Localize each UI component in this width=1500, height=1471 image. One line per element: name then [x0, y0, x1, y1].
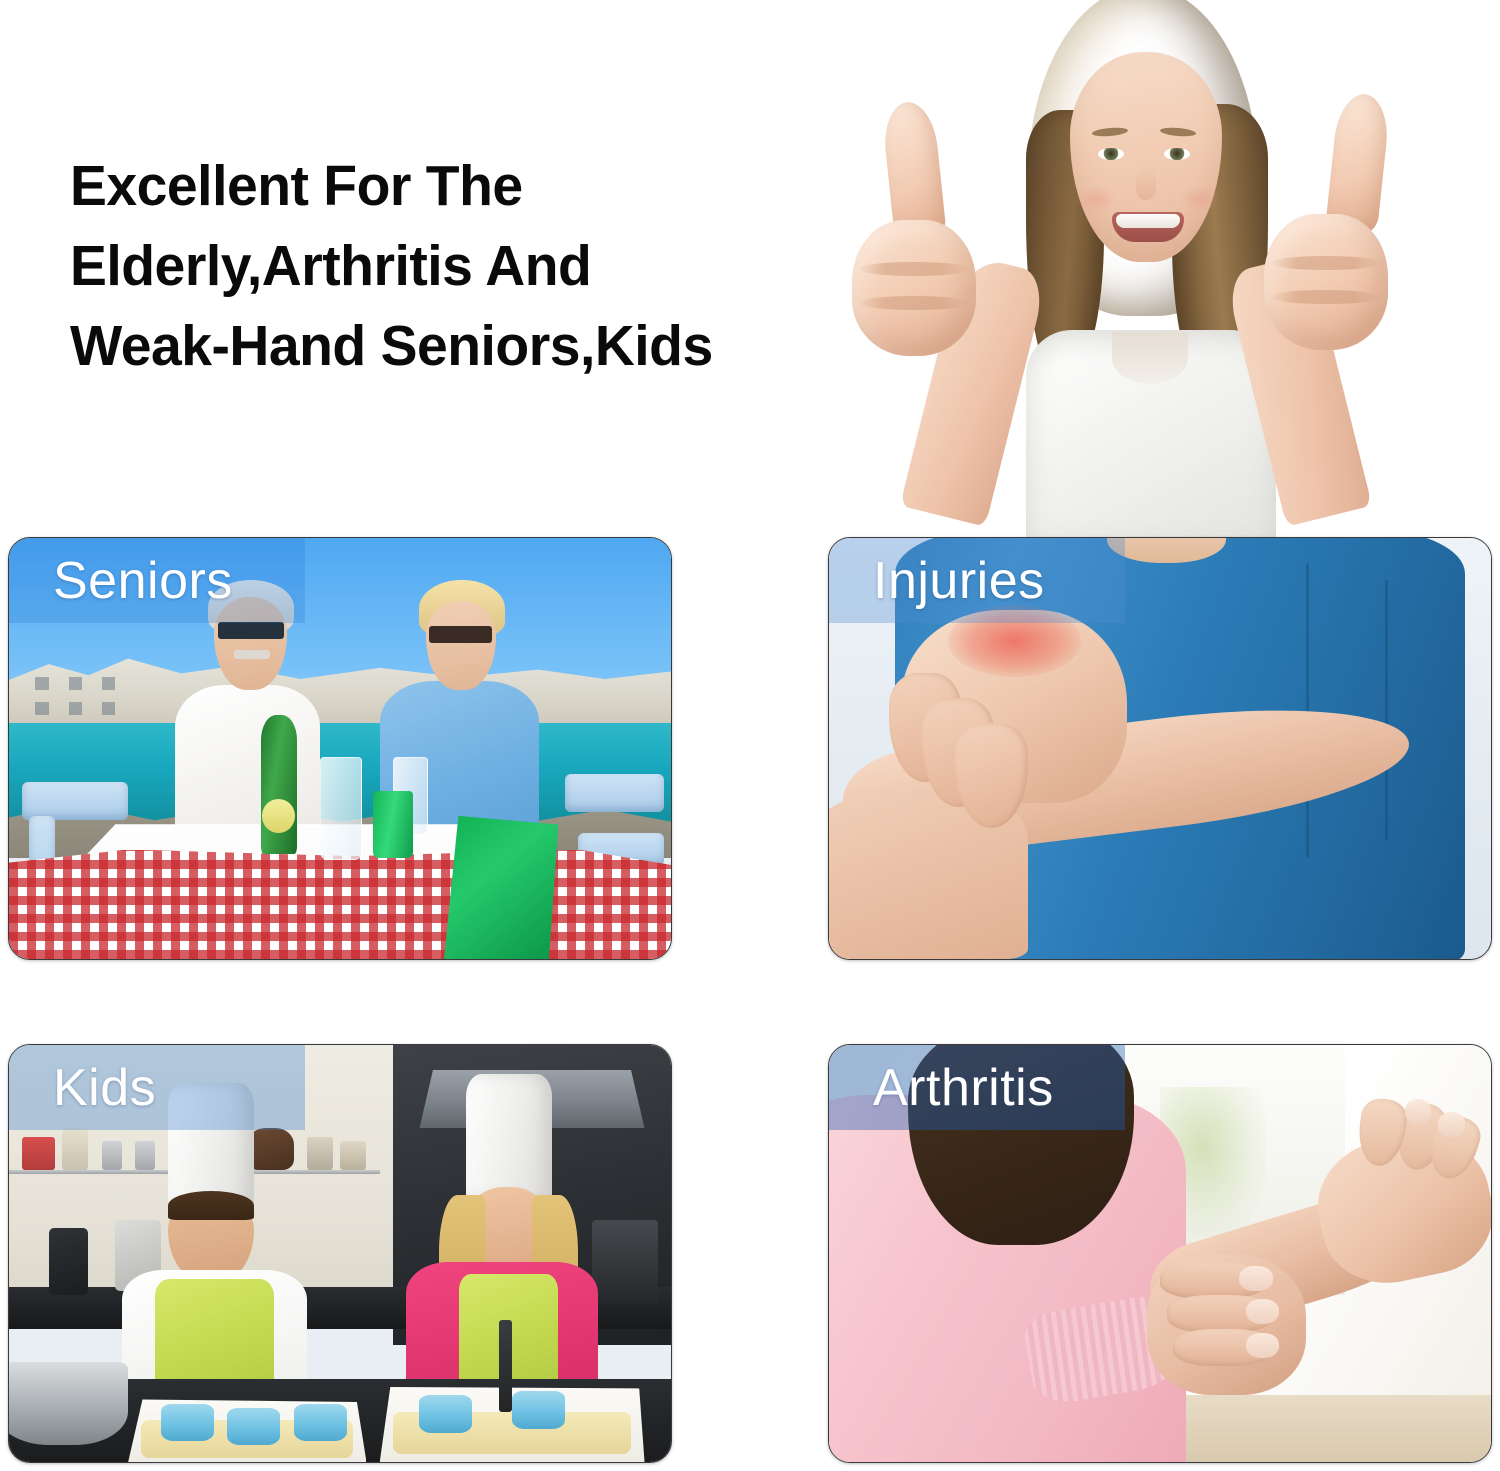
- fist-left: [852, 220, 976, 356]
- shelf-bottle: [62, 1128, 88, 1170]
- use-case-card-arthritis[interactable]: Arthritis: [828, 1044, 1492, 1463]
- fingernail: [1438, 1112, 1464, 1137]
- fingernail: [1246, 1299, 1279, 1324]
- eye-left: [1098, 148, 1124, 160]
- man-sunglasses: [218, 622, 284, 639]
- building-window: [35, 677, 48, 690]
- use-case-card-grid: Seniors Injuries: [8, 537, 1492, 1463]
- fist-right: [1264, 214, 1388, 350]
- blue-cookie-cutter: [161, 1404, 214, 1442]
- bottle-label: [262, 799, 295, 833]
- use-case-card-seniors[interactable]: Seniors: [8, 537, 672, 960]
- blue-cookie-cutter: [419, 1395, 472, 1433]
- card-label-banner-kids: Kids: [9, 1045, 305, 1130]
- building-window: [69, 702, 82, 715]
- knuckle-line: [1270, 290, 1382, 304]
- hero-section: Excellent For The Elderly,Arthritis And …: [0, 0, 1500, 537]
- appliance-dark: [49, 1228, 89, 1295]
- fingernail: [1246, 1333, 1279, 1358]
- card-label-banner-seniors: Seniors: [9, 538, 305, 623]
- woman-sunglasses: [429, 626, 492, 643]
- page-headline: Excellent For The Elderly,Arthritis And …: [70, 146, 827, 386]
- chef-hat-girl: [466, 1074, 552, 1199]
- teeth-shape: [1116, 214, 1180, 228]
- blue-cookie-cutter: [512, 1391, 565, 1429]
- shelf-canister: [340, 1141, 366, 1170]
- shelf-cup: [102, 1141, 122, 1170]
- blue-chair-left: [22, 782, 128, 820]
- man-white-shirt: [175, 685, 321, 845]
- card-label-banner-injuries: Injuries: [829, 538, 1125, 623]
- building-window: [102, 677, 115, 690]
- green-shopping-bag: [439, 816, 558, 959]
- woman-head: [426, 601, 496, 689]
- fingernail: [1239, 1266, 1272, 1291]
- fingernail: [1405, 1099, 1431, 1124]
- eye-right: [1164, 148, 1190, 160]
- blue-chair-right: [565, 774, 664, 812]
- tshirt-collar: [1112, 332, 1188, 384]
- hero-photo-girl-thumbs-up: [740, 0, 1500, 537]
- building-window: [69, 677, 82, 690]
- blue-cookie-cutter: [227, 1408, 280, 1446]
- utensil-handle: [499, 1320, 512, 1412]
- knuckle-line: [858, 262, 970, 276]
- card-label-text: Kids: [53, 1062, 156, 1114]
- shelf-jar: [22, 1137, 55, 1170]
- knuckle-line: [858, 296, 970, 310]
- cheek-right: [1180, 186, 1220, 212]
- man-moustache: [234, 650, 270, 659]
- red-checkered-tablecloth: [9, 850, 671, 959]
- building-window: [102, 702, 115, 715]
- water-glass-left: [320, 757, 362, 860]
- card-label-banner-arthritis: Arthritis: [829, 1045, 1125, 1130]
- building-window: [35, 702, 48, 715]
- shelf-canister: [307, 1137, 333, 1170]
- card-label-text: Arthritis: [873, 1062, 1054, 1114]
- boy-hair: [168, 1191, 254, 1220]
- card-label-text: Injuries: [873, 555, 1045, 607]
- cheek-left: [1076, 186, 1116, 212]
- green-beer-bottle: [261, 715, 297, 854]
- card-label-text: Seniors: [53, 555, 233, 607]
- use-case-card-injuries[interactable]: Injuries: [828, 537, 1492, 960]
- brown-teapot: [247, 1128, 293, 1170]
- blue-cookie-cutter: [294, 1404, 347, 1442]
- green-cup: [373, 791, 413, 858]
- use-case-card-kids[interactable]: Kids: [8, 1044, 672, 1463]
- nose-shape: [1136, 168, 1156, 200]
- knuckle-line: [1270, 256, 1382, 270]
- shirt-fold: [1385, 580, 1388, 841]
- mixing-bowl: [8, 1362, 128, 1445]
- knife-block: [592, 1220, 658, 1303]
- shelf-cup: [135, 1141, 155, 1170]
